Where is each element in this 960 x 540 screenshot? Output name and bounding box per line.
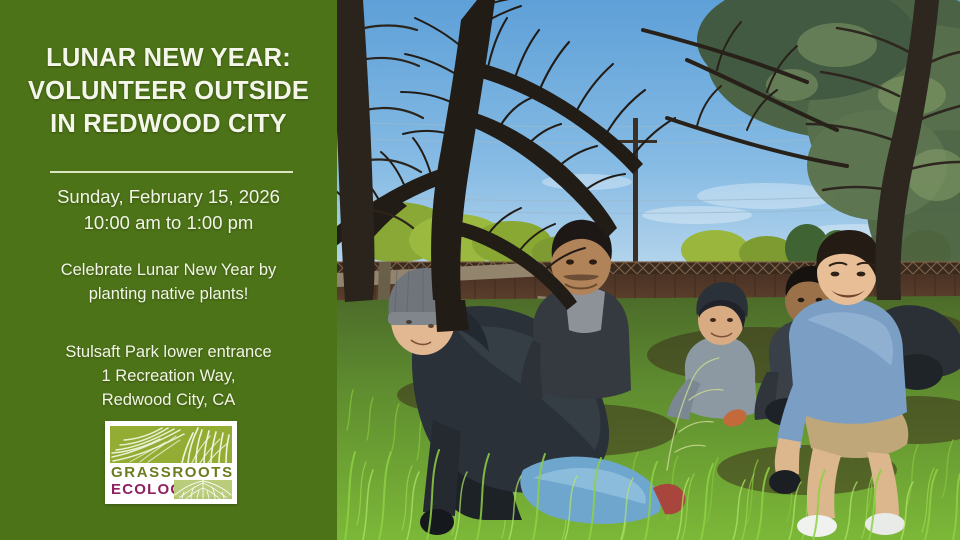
logo-wordmark: GRASSROOTS ECOLOGY: [110, 465, 232, 500]
roots-graphic-icon: [174, 480, 232, 499]
info-panel: LUNAR NEW YEAR: VOLUNTEER OUTSIDE IN RED…: [0, 0, 337, 540]
page-title: LUNAR NEW YEAR: VOLUNTEER OUTSIDE IN RED…: [8, 42, 329, 141]
title-divider: [50, 171, 293, 173]
event-poster: LUNAR NEW YEAR: VOLUNTEER OUTSIDE IN RED…: [0, 0, 960, 540]
photo-illustration: [337, 0, 960, 540]
grass-blades-icon: [110, 426, 232, 463]
event-photo: [337, 0, 960, 540]
grass-graphic-icon: [110, 426, 232, 463]
event-address: Stulsaft Park lower entrance 1 Recreatio…: [8, 341, 329, 412]
organization-logo: GRASSROOTS ECOLOGY: [105, 421, 237, 504]
root-lines-icon: [174, 480, 232, 499]
event-date-time: Sunday, February 15, 2026 10:00 am to 1:…: [8, 184, 329, 237]
logo-text-grassroots: GRASSROOTS: [111, 465, 234, 480]
event-description: Celebrate Lunar New Year by planting nat…: [8, 259, 329, 307]
